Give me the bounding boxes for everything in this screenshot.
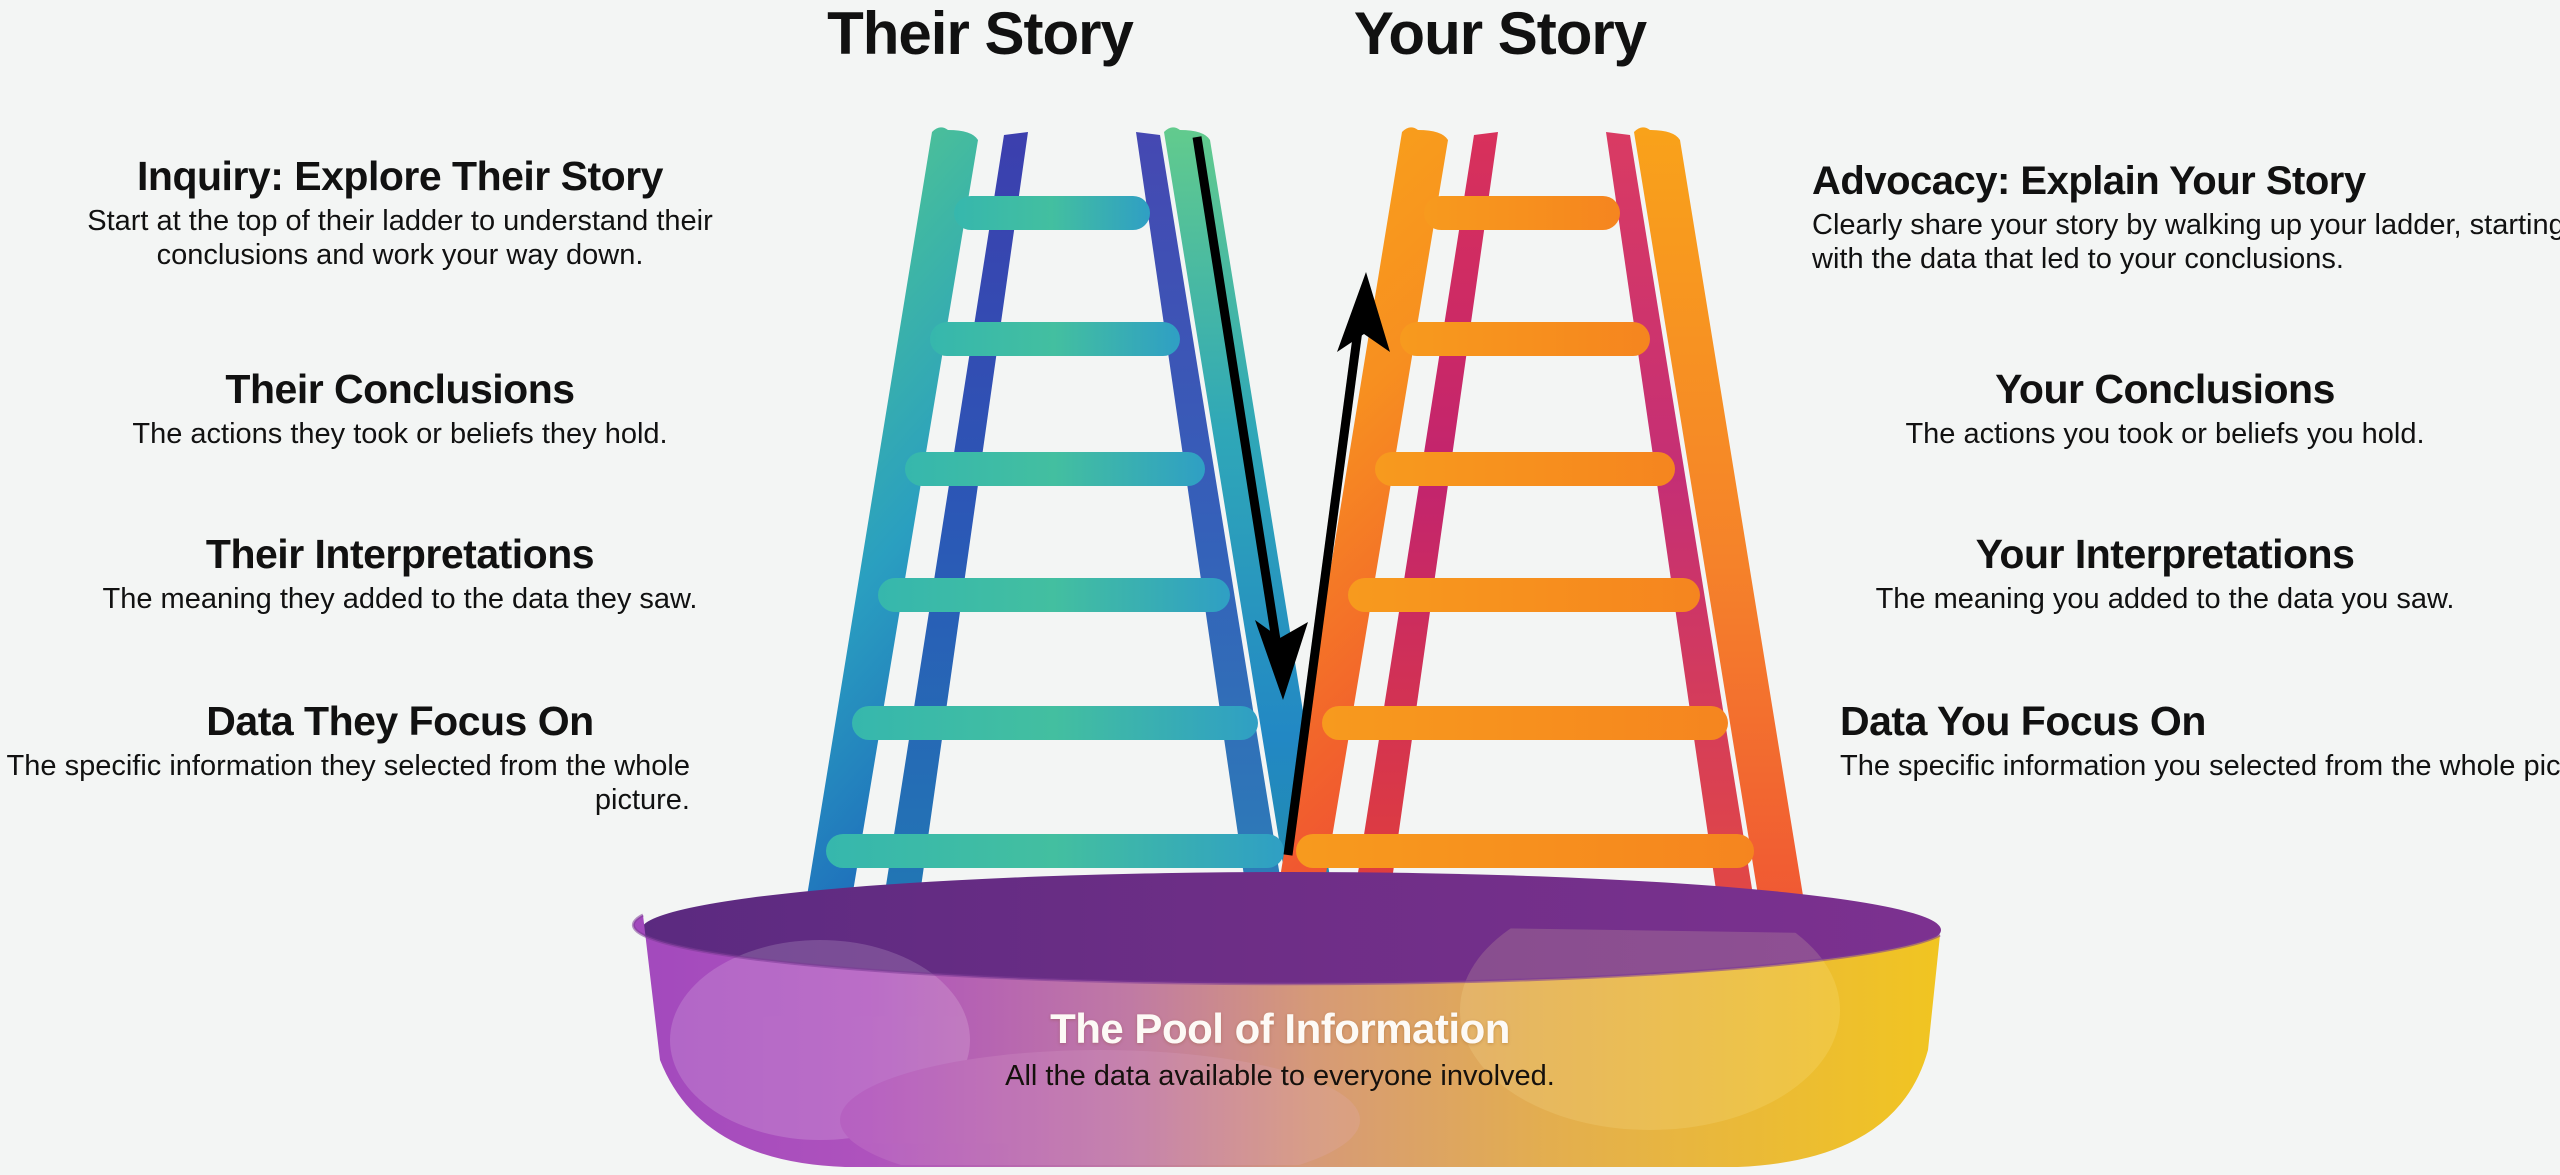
block-advocacy: Advocacy: Explain Your Story Clearly sha… bbox=[1770, 160, 2560, 276]
block-your-data-heading: Data You Focus On bbox=[1840, 700, 2560, 743]
block-your-data-subtitle: The specific information you selected fr… bbox=[1840, 749, 2560, 783]
block-inquiry-heading: Inquiry: Explore Their Story bbox=[0, 155, 800, 198]
block-inquiry-subtitle: Start at the top of their ladder to unde… bbox=[0, 204, 800, 272]
block-their-interpretations: Their Interpretations The meaning they a… bbox=[0, 533, 800, 616]
block-their-data: Data They Focus On The specific informat… bbox=[0, 700, 800, 817]
block-your-interpretations-heading: Your Interpretations bbox=[1770, 533, 2560, 576]
your-story-title: Your Story bbox=[1290, 2, 1710, 65]
their-story-title: Their Story bbox=[770, 2, 1190, 65]
infographic-canvas: Their Story Your Story Inquiry: Explore … bbox=[0, 0, 2560, 1175]
block-their-conclusions-subtitle: The actions they took or beliefs they ho… bbox=[0, 417, 800, 451]
pool-subtitle: All the data available to everyone invol… bbox=[880, 1060, 1680, 1093]
block-advocacy-heading: Advocacy: Explain Your Story bbox=[1812, 160, 2560, 202]
block-your-interpretations-subtitle: The meaning you added to the data you sa… bbox=[1770, 582, 2560, 616]
block-their-data-subtitle: The specific information they selected f… bbox=[0, 749, 800, 817]
block-your-conclusions-subtitle: The actions you took or beliefs you hold… bbox=[1770, 417, 2560, 451]
block-their-interpretations-subtitle: The meaning they added to the data they … bbox=[0, 582, 800, 616]
block-their-conclusions: Their Conclusions The actions they took … bbox=[0, 368, 800, 451]
block-advocacy-subtitle: Clearly share your story by walking up y… bbox=[1812, 208, 2560, 276]
block-their-data-heading: Data They Focus On bbox=[0, 700, 800, 743]
block-your-data: Data You Focus On The specific informati… bbox=[1770, 700, 2560, 783]
block-your-interpretations: Your Interpretations The meaning you add… bbox=[1770, 533, 2560, 616]
block-their-conclusions-heading: Their Conclusions bbox=[0, 368, 800, 411]
block-your-conclusions-heading: Your Conclusions bbox=[1770, 368, 2560, 411]
your-ladder bbox=[1260, 127, 1820, 1000]
block-your-conclusions: Your Conclusions The actions you took or… bbox=[1770, 368, 2560, 451]
pool-title: The Pool of Information bbox=[880, 1005, 1680, 1053]
block-inquiry: Inquiry: Explore Their Story Start at th… bbox=[0, 155, 800, 272]
block-their-interpretations-heading: Their Interpretations bbox=[0, 533, 800, 576]
